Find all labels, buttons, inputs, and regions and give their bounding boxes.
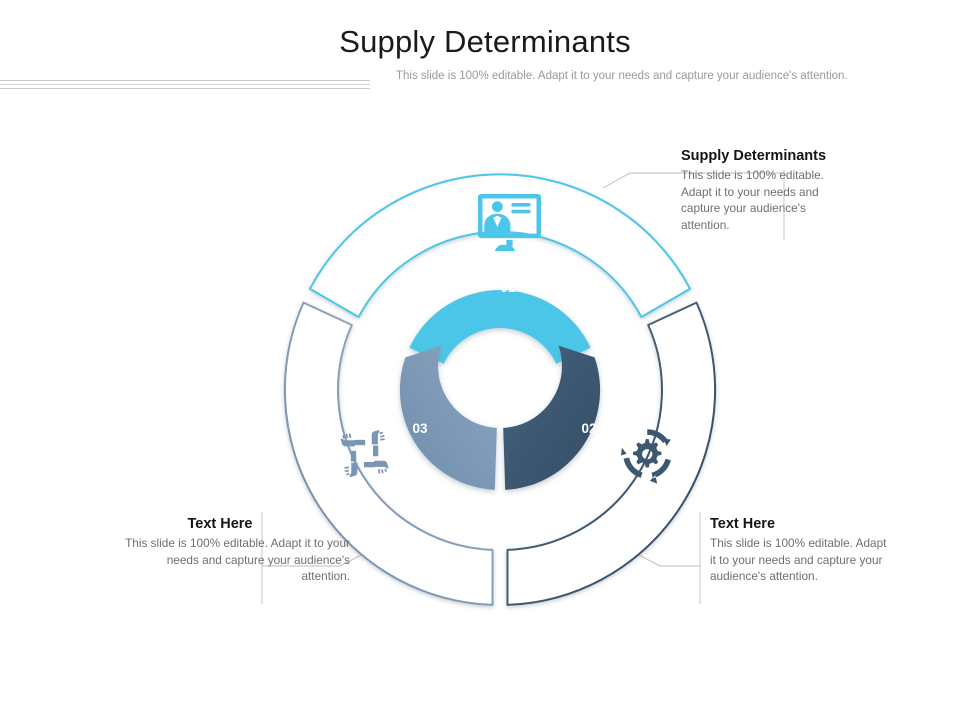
callout-02-body: This slide is 100% editable. Adapt it to…: [710, 535, 890, 585]
slide-canvas: Supply Determinants This slide is 100% e…: [0, 0, 960, 720]
callout-01-body: This slide is 100% editable. Adapt it to…: [681, 167, 856, 233]
donut-segment-02[interactable]: [503, 346, 600, 490]
donut-label-01: 01: [500, 280, 516, 295]
donut-segment-03[interactable]: [400, 346, 497, 490]
donut-label-03: 03: [412, 421, 428, 436]
callout-03-heading: Text Here: [120, 516, 350, 532]
callout-01: Supply Determinants This slide is 100% e…: [681, 148, 856, 233]
callout-02: Text Here This slide is 100% editable. A…: [710, 516, 890, 585]
callout-02-heading: Text Here: [710, 516, 890, 532]
callout-03: Text Here This slide is 100% editable. A…: [120, 516, 350, 585]
supply-determinants-donut-diagram: 01 02 03: [0, 0, 960, 720]
inner-donut-group: 01 02 03: [400, 280, 600, 490]
callout-03-body: This slide is 100% editable. Adapt it to…: [120, 535, 350, 585]
donut-label-02: 02: [581, 421, 596, 436]
callout-01-heading: Supply Determinants: [681, 148, 856, 164]
